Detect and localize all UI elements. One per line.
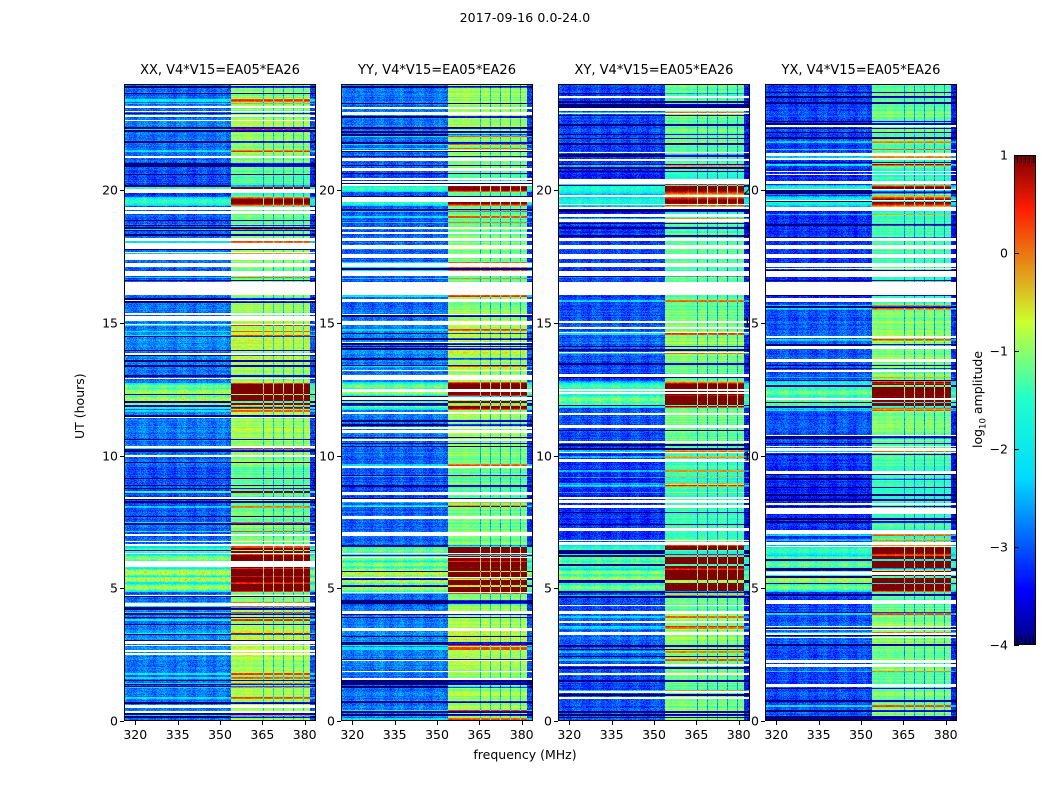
xtick-mark <box>395 721 396 725</box>
ytick-label: 0 <box>313 714 335 729</box>
xtick-mark <box>437 721 438 725</box>
ytick-label: 15 <box>313 315 335 330</box>
xtick-mark <box>479 721 480 725</box>
ytick-mark <box>120 588 124 589</box>
xtick-label: 350 <box>849 727 873 742</box>
xtick-mark <box>776 721 777 725</box>
xtick-label: 350 <box>642 727 666 742</box>
panel-frame-xy <box>558 84 750 721</box>
panel-yy[interactable]: YY, V4*V15=EA05*EA26 <box>341 84 533 721</box>
x-axis-label: frequency (MHz) <box>0 747 1050 762</box>
colorbar-tick-label: −1 <box>980 344 1008 359</box>
xtick-label: 380 <box>934 727 958 742</box>
panel-yx[interactable]: YX, V4*V15=EA05*EA26 <box>765 84 957 721</box>
panel-xy[interactable]: XY, V4*V15=EA05*EA26 <box>558 84 750 721</box>
ytick-label: 20 <box>737 183 759 198</box>
xtick-mark <box>352 721 353 725</box>
ytick-label: 5 <box>313 581 335 596</box>
ytick-label: 20 <box>96 183 118 198</box>
colorbar-tick-mark <box>1014 449 1019 450</box>
ytick-mark <box>337 323 341 324</box>
xtick-mark <box>569 721 570 725</box>
xtick-label: 350 <box>208 727 232 742</box>
panel-frame-yy <box>341 84 533 721</box>
ytick-mark <box>337 190 341 191</box>
panel-title-yy: YY, V4*V15=EA05*EA26 <box>341 63 533 78</box>
ytick-mark <box>761 721 765 722</box>
ytick-mark <box>120 323 124 324</box>
xtick-mark <box>262 721 263 725</box>
ytick-label: 15 <box>96 315 118 330</box>
colorbar[interactable] <box>1014 155 1036 645</box>
xtick-label: 320 <box>123 727 147 742</box>
ytick-mark <box>554 721 558 722</box>
xtick-label: 335 <box>600 727 624 742</box>
ytick-label: 20 <box>313 183 335 198</box>
colorbar-tick-label: −2 <box>980 442 1008 457</box>
xtick-label: 365 <box>250 727 274 742</box>
panel-frame-xx <box>124 84 316 721</box>
xtick-mark <box>220 721 221 725</box>
ytick-label: 10 <box>96 448 118 463</box>
xtick-label: 365 <box>891 727 915 742</box>
ytick-mark <box>337 721 341 722</box>
ytick-label: 10 <box>737 448 759 463</box>
xtick-label: 365 <box>467 727 491 742</box>
xtick-label: 380 <box>510 727 534 742</box>
colorbar-tick-mark <box>1014 351 1019 352</box>
ytick-label: 0 <box>96 714 118 729</box>
ytick-mark <box>761 588 765 589</box>
ytick-label: 15 <box>530 315 552 330</box>
colorbar-frame <box>1014 155 1036 645</box>
ytick-label: 20 <box>530 183 552 198</box>
xtick-mark <box>861 721 862 725</box>
xtick-mark <box>135 721 136 725</box>
ytick-label: 0 <box>737 714 759 729</box>
xtick-mark <box>654 721 655 725</box>
panel-title-yx: YX, V4*V15=EA05*EA26 <box>765 63 957 78</box>
y-axis-label: UT (hours) <box>72 373 87 439</box>
figure-suptitle: 2017-09-16 0.0-24.0 <box>0 10 1050 25</box>
xtick-mark <box>903 721 904 725</box>
xtick-mark <box>696 721 697 725</box>
xtick-label: 335 <box>807 727 831 742</box>
ytick-mark <box>761 323 765 324</box>
colorbar-tick-label: 0 <box>980 246 1008 261</box>
panel-frame-yx <box>765 84 957 721</box>
ytick-mark <box>120 190 124 191</box>
figure-canvas: 2017-09-16 0.0-24.0 UT (hours) frequency… <box>0 0 1050 800</box>
xtick-mark <box>612 721 613 725</box>
ytick-label: 5 <box>737 581 759 596</box>
xtick-label: 380 <box>727 727 751 742</box>
panel-title-xy: XY, V4*V15=EA05*EA26 <box>558 63 750 78</box>
ytick-mark <box>761 456 765 457</box>
ytick-mark <box>761 190 765 191</box>
panel-title-xx: XX, V4*V15=EA05*EA26 <box>124 63 316 78</box>
ytick-mark <box>554 190 558 191</box>
colorbar-tick-label: −3 <box>980 540 1008 555</box>
panel-xx[interactable]: XX, V4*V15=EA05*EA26 <box>124 84 316 721</box>
ytick-mark <box>554 323 558 324</box>
ytick-mark <box>337 588 341 589</box>
xtick-mark <box>178 721 179 725</box>
ytick-label: 5 <box>530 581 552 596</box>
ytick-mark <box>120 721 124 722</box>
colorbar-label: log10 amplitude <box>970 351 989 448</box>
xtick-label: 320 <box>557 727 581 742</box>
ytick-label: 10 <box>530 448 552 463</box>
xtick-mark <box>946 721 947 725</box>
xtick-label: 335 <box>166 727 190 742</box>
ytick-label: 0 <box>530 714 552 729</box>
xtick-label: 350 <box>425 727 449 742</box>
xtick-mark <box>819 721 820 725</box>
colorbar-tick-mark <box>1014 155 1019 156</box>
ytick-mark <box>120 456 124 457</box>
colorbar-tick-label: −4 <box>980 638 1008 653</box>
ytick-mark <box>554 456 558 457</box>
ytick-mark <box>337 456 341 457</box>
colorbar-tick-mark <box>1014 253 1019 254</box>
colorbar-tick-mark <box>1014 645 1019 646</box>
colorbar-tick-mark <box>1014 547 1019 548</box>
ytick-label: 5 <box>96 581 118 596</box>
xtick-mark <box>522 721 523 725</box>
ytick-label: 15 <box>737 315 759 330</box>
ytick-mark <box>554 588 558 589</box>
xtick-label: 320 <box>764 727 788 742</box>
xtick-label: 320 <box>340 727 364 742</box>
xtick-label: 365 <box>684 727 708 742</box>
xtick-mark <box>305 721 306 725</box>
xtick-label: 380 <box>293 727 317 742</box>
ytick-label: 10 <box>313 448 335 463</box>
colorbar-tick-label: 1 <box>980 148 1008 163</box>
xtick-label: 335 <box>383 727 407 742</box>
